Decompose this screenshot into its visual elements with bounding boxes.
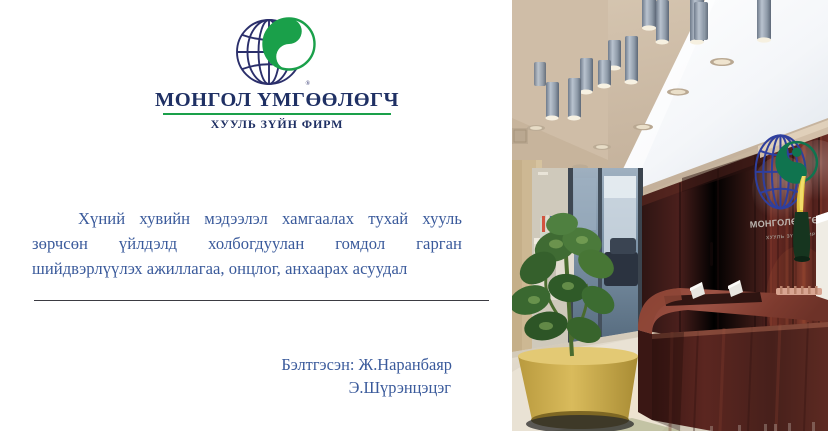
slide-canvas: ® МОНГОЛ ҮМГӨӨЛӨГЧ ХУУЛЬ ЗҮЙН ФИРМ Хүний… — [0, 0, 828, 431]
presenters-credits: Бэлтгэсэн: Ж.Наранбаяр Э.Шүрэнцэцэг — [162, 353, 452, 399]
office-reception-lobby-photo: МОНГОЛӨМГӨӨЛӨГЧ ХУУЛЬ ЗҮЙН ФИРМ — [512, 0, 828, 431]
company-logo-block: ® МОНГОЛ ҮМГӨӨЛӨГЧ ХУУЛЬ ЗҮЙН ФИРМ — [152, 14, 402, 132]
presenter-line-2: Э.Шүрэнцэцэг — [162, 376, 452, 399]
globe-yinyang-logo-icon: ® — [227, 14, 327, 88]
logo-divider — [163, 113, 391, 115]
title-underline-rule — [34, 300, 489, 301]
title-slide-left-pane: ® МОНГОЛ ҮМГӨӨЛӨГЧ ХУУЛЬ ЗҮЙН ФИРМ Хүний… — [0, 0, 512, 431]
presentation-title-paragraph: Хүний хувийн мэдээлэл хамгаалах тухай ху… — [32, 206, 462, 281]
presenter-line-1: Бэлтгэсэн: Ж.Наранбаяр — [162, 353, 452, 376]
company-name: МОНГОЛ ҮМГӨӨЛӨГЧ — [152, 90, 402, 112]
registered-trademark-icon: ® — [305, 81, 310, 87]
company-tagline: ХУУЛЬ ЗҮЙН ФИРМ — [152, 117, 402, 132]
